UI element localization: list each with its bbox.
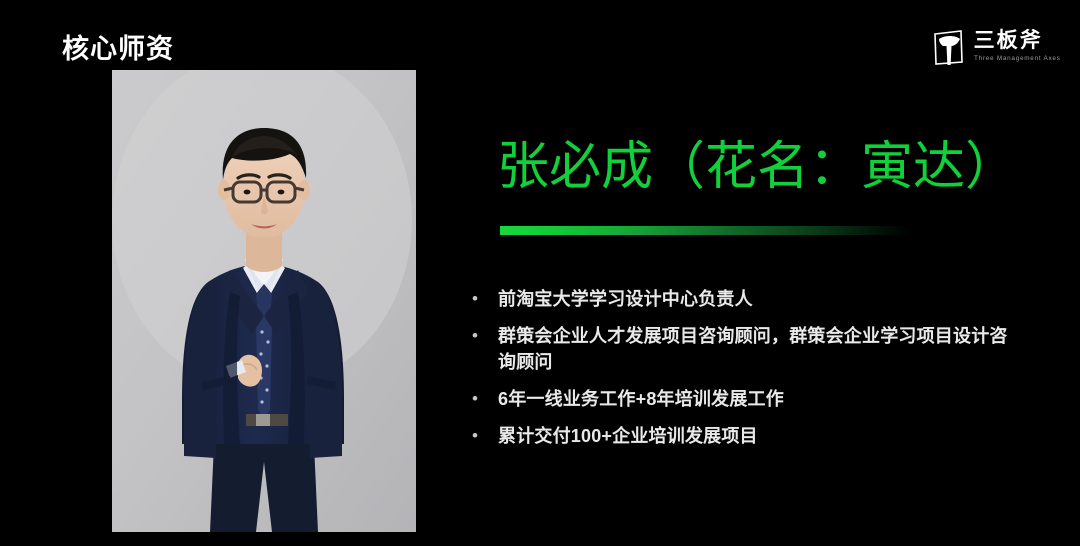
list-item: • 累计交付100+企业培训发展项目: [468, 423, 1013, 449]
person-name: 张必成（花名：寅达）: [497, 136, 1017, 198]
portrait-photo: [112, 70, 416, 532]
axe-icon: [931, 28, 967, 68]
list-item-label: 前淘宝大学学习设计中心负责人: [498, 286, 1013, 312]
credentials-list: • 前淘宝大学学习设计中心负责人 • 群策会企业人才发展项目咨询顾问，群策会企业…: [468, 286, 1013, 460]
list-item: • 6年一线业务工作+8年培训发展工作: [468, 386, 1013, 412]
slide-root: 核心师资 三板斧 Three Management Axes: [0, 0, 1080, 546]
list-item-label: 群策会企业人才发展项目咨询顾问，群策会企业学习项目设计咨询顾问: [498, 323, 1013, 375]
logo-name-en: Three Management Axes: [974, 55, 1061, 63]
bullet-marker-icon: •: [468, 423, 498, 449]
list-item: • 前淘宝大学学习设计中心负责人: [468, 286, 1013, 312]
bullet-marker-icon: •: [468, 323, 498, 349]
bullet-marker-icon: •: [468, 286, 498, 312]
logo-name-cn: 三板斧: [974, 30, 1062, 52]
list-item: • 群策会企业人才发展项目咨询顾问，群策会企业学习项目设计咨询顾问: [468, 323, 1013, 375]
list-item-label: 6年一线业务工作+8年培训发展工作: [498, 386, 1013, 412]
bullet-marker-icon: •: [468, 386, 498, 412]
page-title: 核心师资: [62, 35, 174, 65]
brand-logo: 三板斧 Three Management Axes: [931, 24, 1062, 72]
accent-bar: [500, 226, 910, 235]
list-item-label: 累计交付100+企业培训发展项目: [498, 423, 1013, 449]
logo-text: 三板斧 Three Management Axes: [974, 28, 1062, 68]
